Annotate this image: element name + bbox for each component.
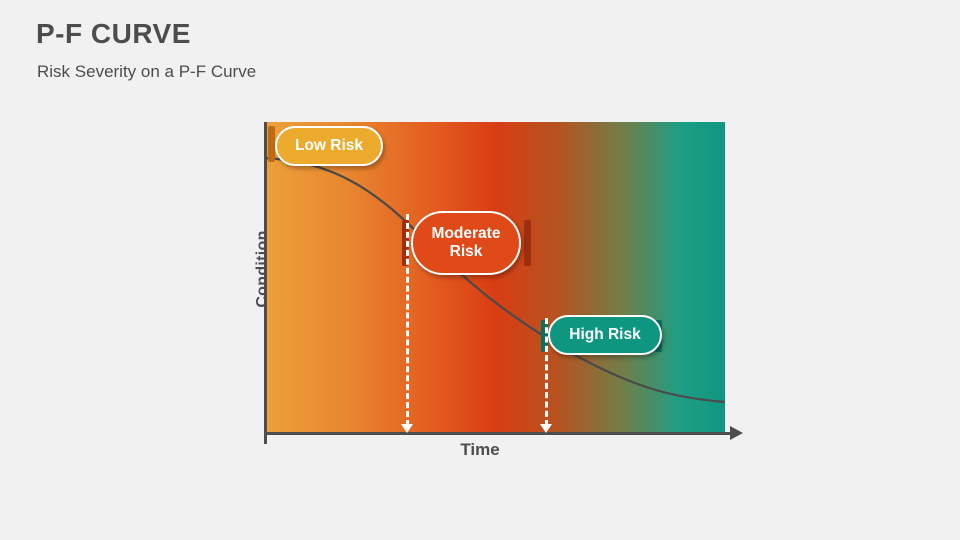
label-moderate-risk-text-line2: Risk: [432, 243, 501, 261]
bracket-moderate-risk-right: [524, 220, 531, 266]
y-axis-label: Condition: [254, 209, 272, 329]
label-low-risk[interactable]: Low Risk: [275, 126, 383, 166]
label-moderate-risk-text-line1: Moderate: [432, 225, 501, 243]
label-high-risk-text: High Risk: [569, 326, 640, 344]
dropline-high-arrow-icon: [540, 424, 552, 433]
label-moderate-risk[interactable]: Moderate Risk: [411, 211, 521, 275]
bracket-low-risk: [268, 126, 275, 162]
pf-curve-chart: Low Risk Moderate Risk High Risk Conditi…: [225, 110, 765, 470]
label-low-risk-text: Low Risk: [295, 137, 363, 155]
page-subtitle: Risk Severity on a P-F Curve: [37, 62, 256, 82]
slide-canvas: P-F CURVE Risk Severity on a P-F Curve L…: [0, 0, 960, 540]
dropline-moderate-arrow-icon: [401, 424, 413, 433]
label-high-risk[interactable]: High Risk: [548, 315, 662, 355]
page-title: P-F CURVE: [36, 18, 191, 50]
x-axis-label: Time: [415, 440, 545, 460]
dropline-moderate-risk: [406, 214, 409, 426]
